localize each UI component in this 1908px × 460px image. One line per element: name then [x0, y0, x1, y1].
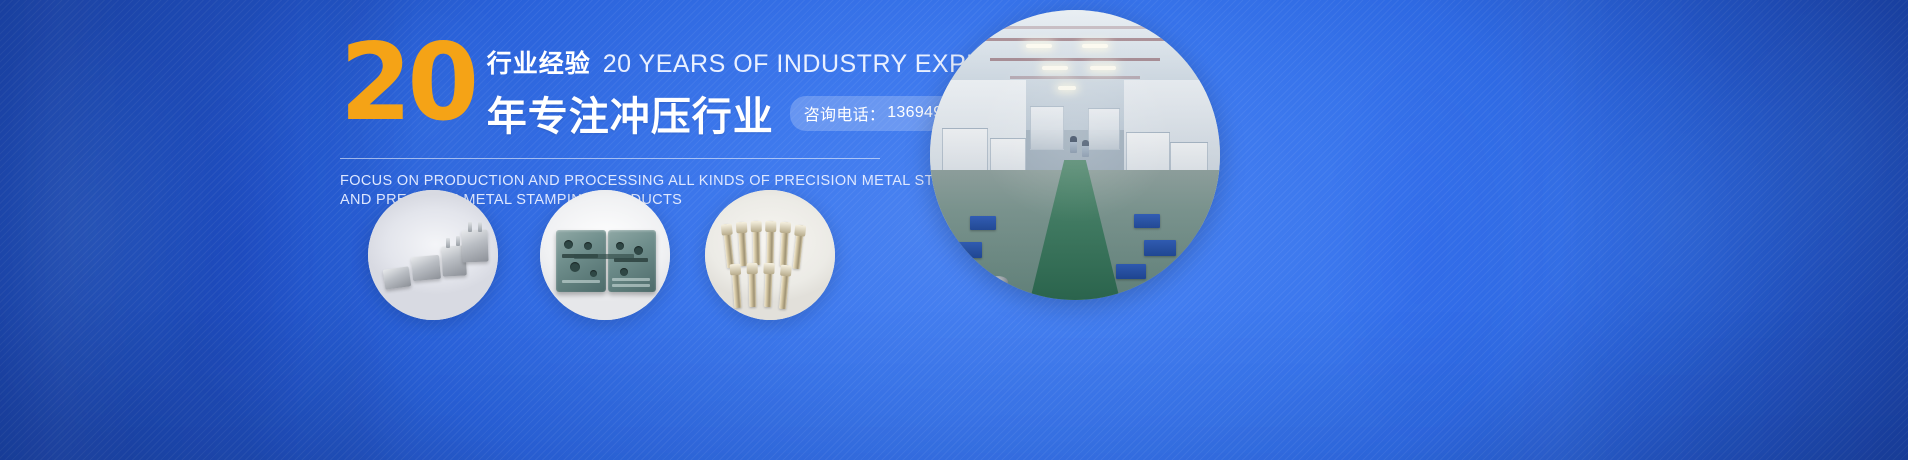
mold-plate — [608, 230, 656, 292]
product-circle-pins — [705, 190, 835, 320]
connector-part — [461, 230, 488, 263]
product-circle-connectors-photo — [368, 190, 498, 320]
connector-part — [411, 255, 441, 281]
stamping-focus-cn: 年专注冲压行业 — [487, 84, 774, 142]
metal-pin — [779, 265, 790, 309]
headline-row: 20 行业经验 20 YEARS OF INDUSTRY EXPERIENCE … — [340, 38, 900, 142]
subtitle-line-1: FOCUS ON PRODUCTION AND PROCESSING ALL K… — [340, 172, 900, 191]
product-circle-connectors — [368, 190, 498, 320]
metal-pin — [731, 264, 741, 308]
metal-pin — [749, 263, 757, 307]
connector-part — [383, 266, 412, 289]
industry-experience-cn: 行业经验 — [487, 44, 591, 80]
metal-pin — [753, 221, 761, 265]
metal-pin — [793, 225, 805, 269]
copy-divider — [340, 158, 880, 159]
connector-pin — [446, 238, 450, 248]
banner-copy-block: 20 行业经验 20 YEARS OF INDUSTRY EXPERIENCE … — [340, 38, 900, 210]
factory-photo-circle — [930, 10, 1220, 300]
connector-pin — [456, 236, 460, 246]
factory-photo — [930, 10, 1220, 300]
metal-pin — [780, 222, 789, 266]
metal-pin — [723, 224, 735, 268]
factory-photo-haze — [930, 10, 1220, 300]
years-number: 20 — [340, 40, 475, 126]
phone-label: 咨询电话： — [804, 101, 886, 125]
hero-banner: 20 行业经验 20 YEARS OF INDUSTRY EXPERIENCE … — [0, 0, 1908, 460]
mold-plate — [556, 230, 606, 292]
metal-pin — [764, 263, 773, 307]
connector-pin — [468, 222, 472, 232]
metal-pin — [767, 221, 775, 265]
product-circle-pins-photo — [705, 190, 835, 320]
connector-pin — [478, 222, 482, 232]
product-circle-mold-photo — [540, 190, 670, 320]
product-circle-mold — [540, 190, 670, 320]
metal-pin — [738, 222, 747, 266]
